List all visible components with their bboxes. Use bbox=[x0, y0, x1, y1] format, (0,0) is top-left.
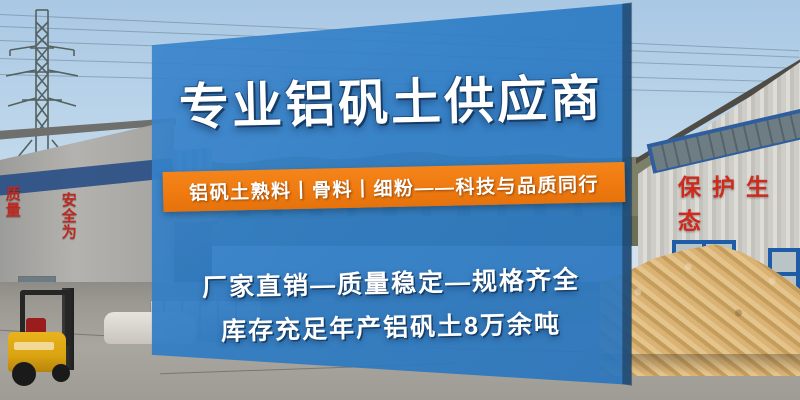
promo-banner: 质量 安全为 保护 bbox=[0, 0, 800, 400]
banner-tagline: 铝矾土熟料丨骨料丨细粉——科技与品质同行 bbox=[163, 162, 626, 212]
banner-subline-1: 厂家直销—质量稳定—规格齐全 bbox=[152, 259, 631, 305]
banner-text-layer: 专业铝矾土供应商 铝矾土熟料丨骨料丨细粉——科技与品质同行 厂家直销—质量稳定—… bbox=[0, 0, 800, 400]
banner-headline: 专业铝矾土供应商 bbox=[152, 73, 631, 133]
banner-subline-2: 库存充足年产铝矾土8万余吨 bbox=[152, 303, 631, 349]
